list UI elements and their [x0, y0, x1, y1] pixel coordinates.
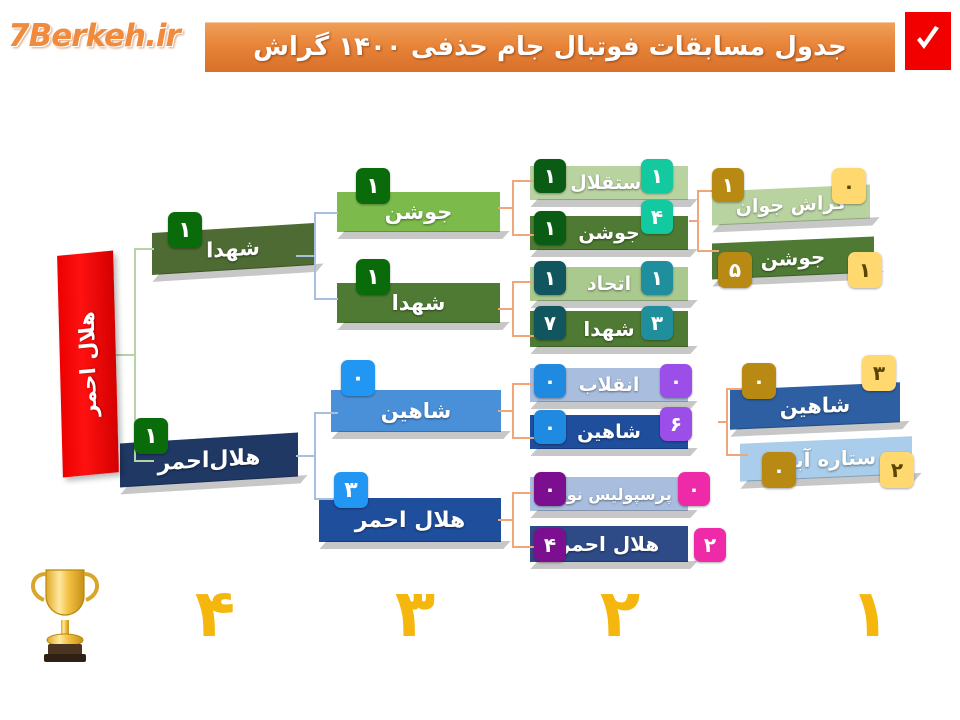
connector-r2-pair-1: [498, 180, 534, 242]
round-label-4: ۴: [155, 575, 275, 652]
team-name: گراش جوان: [736, 192, 847, 219]
team-name: هلال‌احمر: [158, 444, 261, 475]
round2-score-perspolis-novin-right: ۰: [678, 472, 710, 506]
team-name: شهدا: [583, 317, 634, 341]
round2-score-shahin-right: ۶: [660, 407, 692, 441]
round3-team-shahin[interactable]: شاهین: [331, 390, 501, 432]
round4-score-helal-ahmar: ۱: [134, 418, 168, 454]
round2-score-enghelab-right: ۰: [660, 364, 692, 398]
round2-score-shohada-left: ۷: [534, 306, 566, 340]
check-badge: [905, 12, 951, 70]
round2-score-ettehad-right: ۱: [641, 261, 673, 295]
page-title: جدول مسابقات فوتبال جام حذفی ۱۴۰۰ گراش: [205, 22, 895, 72]
connector-r3-pair-1: [296, 212, 336, 304]
round2-score-jooshan-right: ۴: [641, 200, 673, 234]
round2-score-helal-ahmar-left: ۴: [534, 528, 566, 562]
round2-score-esteghlal-right: ۱: [641, 159, 673, 193]
title-bar: جدول مسابقات فوتبال جام حذفی ۱۴۰۰ گراش: [205, 22, 895, 72]
team-name: شهدا: [392, 291, 446, 315]
round2-score-shohada-right: ۳: [641, 306, 673, 340]
team-name: انقلاب: [579, 374, 640, 396]
team-name: استقلال: [570, 172, 648, 194]
team-name: هلال احمر: [559, 532, 660, 556]
team-name: جوشن: [385, 200, 453, 224]
round1-score-shahin-left: ۰: [742, 363, 776, 399]
round2-score-jooshan-left: ۱: [534, 211, 566, 245]
connector-r1-pair-2: [718, 388, 748, 464]
round1-score-setareh-abi-left: ۰: [762, 452, 796, 488]
connector-r3-pair-2: [296, 412, 336, 504]
round-label-2: ۲: [560, 575, 680, 652]
round3-score-jooshan: ۱: [356, 168, 390, 204]
round-label-1: ۱: [810, 575, 930, 652]
round2-score-perspolis-novin-left: ۰: [534, 472, 566, 506]
round1-score-gerash-javan-right: ۰: [832, 168, 866, 204]
team-name: شاهین: [381, 399, 452, 423]
connector-r2-pair-4: [498, 492, 534, 554]
round2-score-esteghlal-left: ۱: [534, 159, 566, 193]
round2-score-helal-ahmar-right: ۲: [694, 528, 726, 562]
team-name: جوشن: [578, 222, 639, 244]
team-name: شاهین: [780, 392, 851, 419]
round1-score-jooshan-left: ۵: [718, 252, 752, 288]
team-name: جوشن: [761, 245, 826, 272]
connector-r2-pair-3: [498, 383, 534, 445]
team-name: شهدا: [206, 235, 260, 262]
round2-score-shahin-left: ۰: [534, 410, 566, 444]
page-header: 7Berkeh.ir جدول مسابقات فوتبال جام حذفی …: [0, 0, 960, 82]
round3-score-helal-ahmar: ۳: [334, 472, 368, 508]
round1-score-jooshan-right: ۱: [848, 252, 882, 288]
trophy-icon: [20, 560, 110, 670]
round3-score-shohada: ۱: [356, 259, 390, 295]
round-label-3: ۳: [355, 575, 475, 652]
bracket-page: 7Berkeh.ir جدول مسابقات فوتبال جام حذفی …: [0, 0, 960, 720]
site-brand: 7Berkeh.ir: [8, 18, 180, 54]
team-name: اتحاد: [587, 273, 631, 295]
champion-bar[interactable]: هلال احمر: [57, 251, 119, 478]
connector-r2-pair-2: [498, 281, 534, 343]
check-icon: [913, 24, 943, 58]
round1-score-gerash-javan-left: ۱: [712, 168, 744, 202]
round4-score-shohada: ۱: [168, 212, 202, 248]
team-name: شاهین: [577, 421, 641, 443]
round2-score-ettehad-left: ۱: [534, 261, 566, 295]
round3-score-shahin: ۰: [341, 360, 375, 396]
round1-score-setareh-abi-right: ۲: [880, 452, 914, 488]
team-name: هلال احمر: [355, 508, 466, 533]
round2-score-enghelab-left: ۰: [534, 364, 566, 398]
champion-name: هلال احمر: [57, 251, 119, 478]
round1-score-shahin-right: ۳: [862, 355, 896, 391]
